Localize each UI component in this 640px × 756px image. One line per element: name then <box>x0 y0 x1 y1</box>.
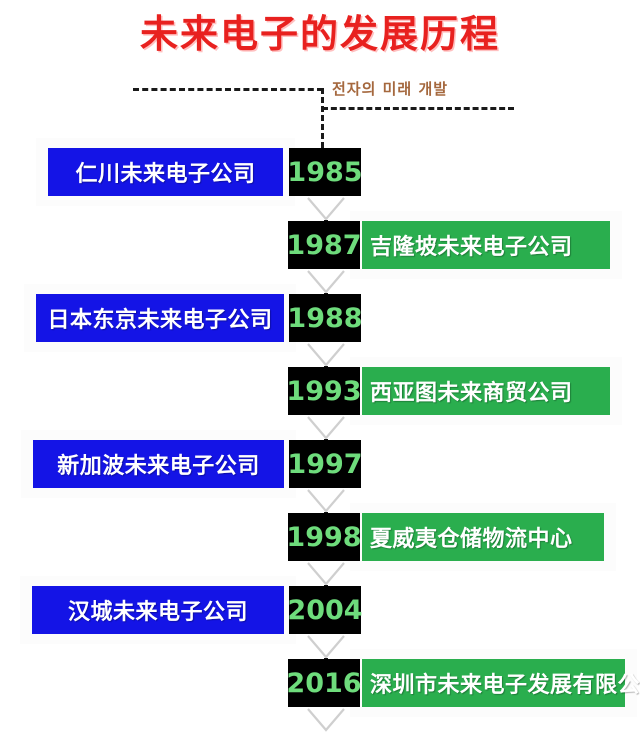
year-chip-text: 2016 <box>286 668 361 699</box>
timeline-event-row: 夏威夷仓储物流中心1998 <box>0 513 640 561</box>
timeline: 仁川未来电子公司1985吉隆坡未来电子公司1987日本东京未来电子公司1988西… <box>0 130 640 727</box>
header-dash-line-right <box>322 107 514 110</box>
chevron-down-icon <box>296 561 356 587</box>
chevron-down-icon <box>296 269 356 295</box>
header-dash-line-left <box>133 88 323 91</box>
company-label-1988[interactable]: 日本东京未来电子公司 <box>36 294 284 342</box>
company-label-text: 夏威夷仓储物流中心 <box>370 521 573 553</box>
year-chip-1988[interactable]: 1988 <box>289 294 361 342</box>
chevron-down-icon <box>296 707 356 733</box>
chevron-down-icon <box>296 196 356 222</box>
timeline-event-row: 西亚图未来商贸公司1993 <box>0 367 640 415</box>
company-label-1993[interactable]: 西亚图未来商贸公司 <box>362 367 610 415</box>
year-chip-1997[interactable]: 1997 <box>289 440 361 488</box>
timeline-event-row: 新加波未来电子公司1997 <box>0 440 640 488</box>
year-chip-1985[interactable]: 1985 <box>289 148 361 196</box>
header: 未来电子的发展历程 전자의 미래 개발 <box>0 0 640 130</box>
company-label-text: 仁川未来电子公司 <box>75 156 255 188</box>
company-label-text: 西亚图未来商贸公司 <box>370 375 573 407</box>
timeline-event-row: 深圳市未来电子发展有限公司2016 <box>0 659 640 707</box>
company-label-2016[interactable]: 深圳市未来电子发展有限公司 <box>362 659 625 707</box>
chevron-down-icon <box>296 634 356 660</box>
year-chip-2016[interactable]: 2016 <box>288 659 360 707</box>
timeline-event-row: 日本东京未来电子公司1988 <box>0 294 640 342</box>
company-label-1985[interactable]: 仁川未来电子公司 <box>48 148 283 196</box>
timeline-event-row: 汉城未来电子公司2004 <box>0 586 640 634</box>
company-label-1987[interactable]: 吉隆坡未来电子公司 <box>362 221 610 269</box>
company-label-1997[interactable]: 新加波未来电子公司 <box>33 440 284 488</box>
year-chip-text: 1993 <box>286 376 361 407</box>
company-label-text: 深圳市未来电子发展有限公司 <box>370 667 640 699</box>
timeline-event-row: 仁川未来电子公司1985 <box>0 148 640 196</box>
timeline-connector <box>296 707 356 756</box>
year-chip-text: 1997 <box>287 449 362 480</box>
year-chip-2004[interactable]: 2004 <box>289 586 361 634</box>
company-label-1998[interactable]: 夏威夷仓储物流中心 <box>362 513 604 561</box>
year-chip-text: 1998 <box>286 522 361 553</box>
company-label-text: 新加波未来电子公司 <box>57 448 260 480</box>
company-label-text: 吉隆坡未来电子公司 <box>370 229 573 261</box>
year-chip-1993[interactable]: 1993 <box>288 367 360 415</box>
page-title: 未来电子的发展历程 <box>0 14 640 56</box>
year-chip-text: 1988 <box>287 303 362 334</box>
chevron-down-icon <box>296 488 356 514</box>
company-label-text: 日本东京未来电子公司 <box>47 302 272 334</box>
year-chip-text: 2004 <box>287 595 362 626</box>
company-label-text: 汉城未来电子公司 <box>68 594 248 626</box>
chevron-down-icon <box>296 415 356 441</box>
company-label-2004[interactable]: 汉城未来电子公司 <box>32 586 284 634</box>
year-chip-1998[interactable]: 1998 <box>288 513 360 561</box>
year-chip-1987[interactable]: 1987 <box>288 221 360 269</box>
chevron-down-icon <box>296 342 356 368</box>
timeline-event-row: 吉隆坡未来电子公司1987 <box>0 221 640 269</box>
year-chip-text: 1987 <box>286 230 361 261</box>
year-chip-text: 1985 <box>287 157 362 188</box>
page-subtitle: 전자의 미래 개발 <box>332 78 448 99</box>
